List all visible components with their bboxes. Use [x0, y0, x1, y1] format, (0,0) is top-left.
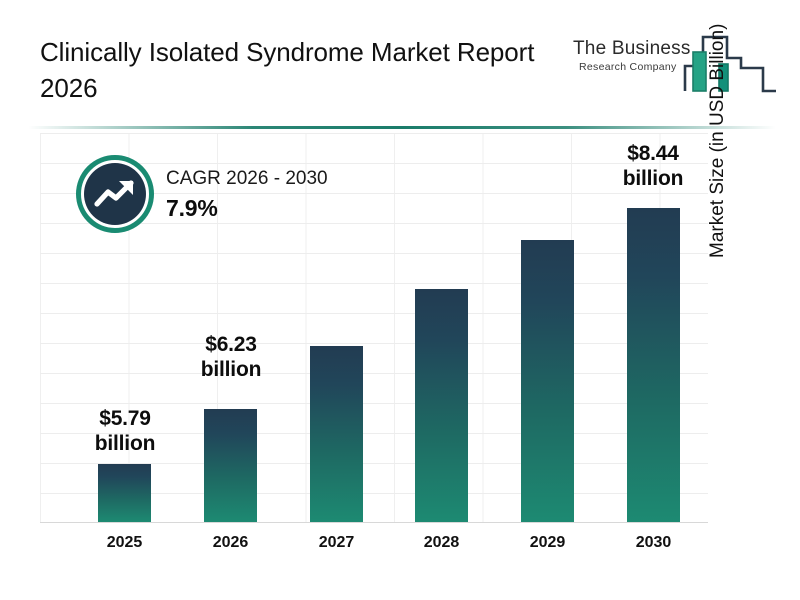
chart-page: Clinically Isolated Syndrome Market Repo…	[0, 0, 800, 600]
bar-value-amount-2030: $8.44	[594, 141, 712, 166]
bar-2029[interactable]	[521, 240, 574, 522]
bar-value-unit-2030: billion	[594, 166, 712, 191]
x-axis-label-2030: 2030	[617, 534, 690, 552]
header: Clinically Isolated Syndrome Market Repo…	[0, 0, 800, 120]
page-title: Clinically Isolated Syndrome Market Repo…	[40, 34, 550, 106]
x-axis-label-2026: 2026	[194, 534, 267, 552]
cagr-text-block: CAGR 2026 - 2030 7.9%	[166, 166, 406, 224]
bar-2027[interactable]	[310, 346, 363, 522]
logo-text: The Business Research Company	[573, 38, 701, 74]
bar-value-amount-2025: $5.79	[66, 406, 184, 431]
company-logo: The Business Research Company	[573, 28, 778, 100]
bar-2028[interactable]	[415, 289, 468, 522]
y-axis-title: Market Size (in USD Billion)	[707, 0, 729, 258]
logo-subtitle: Research Company	[573, 60, 701, 74]
trending-up-arrow-icon	[84, 163, 146, 225]
cagr-value: 7.9%	[166, 192, 406, 224]
x-axis-label-2028: 2028	[405, 534, 478, 552]
bar-chart-logo-mark-icon	[683, 28, 778, 100]
x-axis-label-2029: 2029	[511, 534, 584, 552]
bar-value-unit-2025: billion	[66, 431, 184, 456]
bar-value-label-2026: $6.23 billion	[172, 332, 290, 382]
bar-2026[interactable]	[204, 409, 257, 522]
bar-2030[interactable]	[627, 208, 680, 522]
x-axis-label-2027: 2027	[300, 534, 373, 552]
cagr-period-label: CAGR 2026 - 2030	[166, 166, 406, 192]
bar-value-amount-2026: $6.23	[172, 332, 290, 357]
x-axis-label-2025: 2025	[88, 534, 161, 552]
cagr-badge	[76, 155, 154, 233]
bar-value-label-2030: $8.44 billion	[594, 141, 712, 191]
logo-title: The Business	[573, 38, 701, 60]
x-axis-baseline	[40, 522, 708, 523]
bar-2025[interactable]	[98, 464, 151, 522]
bar-value-unit-2026: billion	[172, 357, 290, 382]
header-divider	[28, 126, 776, 129]
bar-value-label-2025: $5.79 billion	[66, 406, 184, 456]
